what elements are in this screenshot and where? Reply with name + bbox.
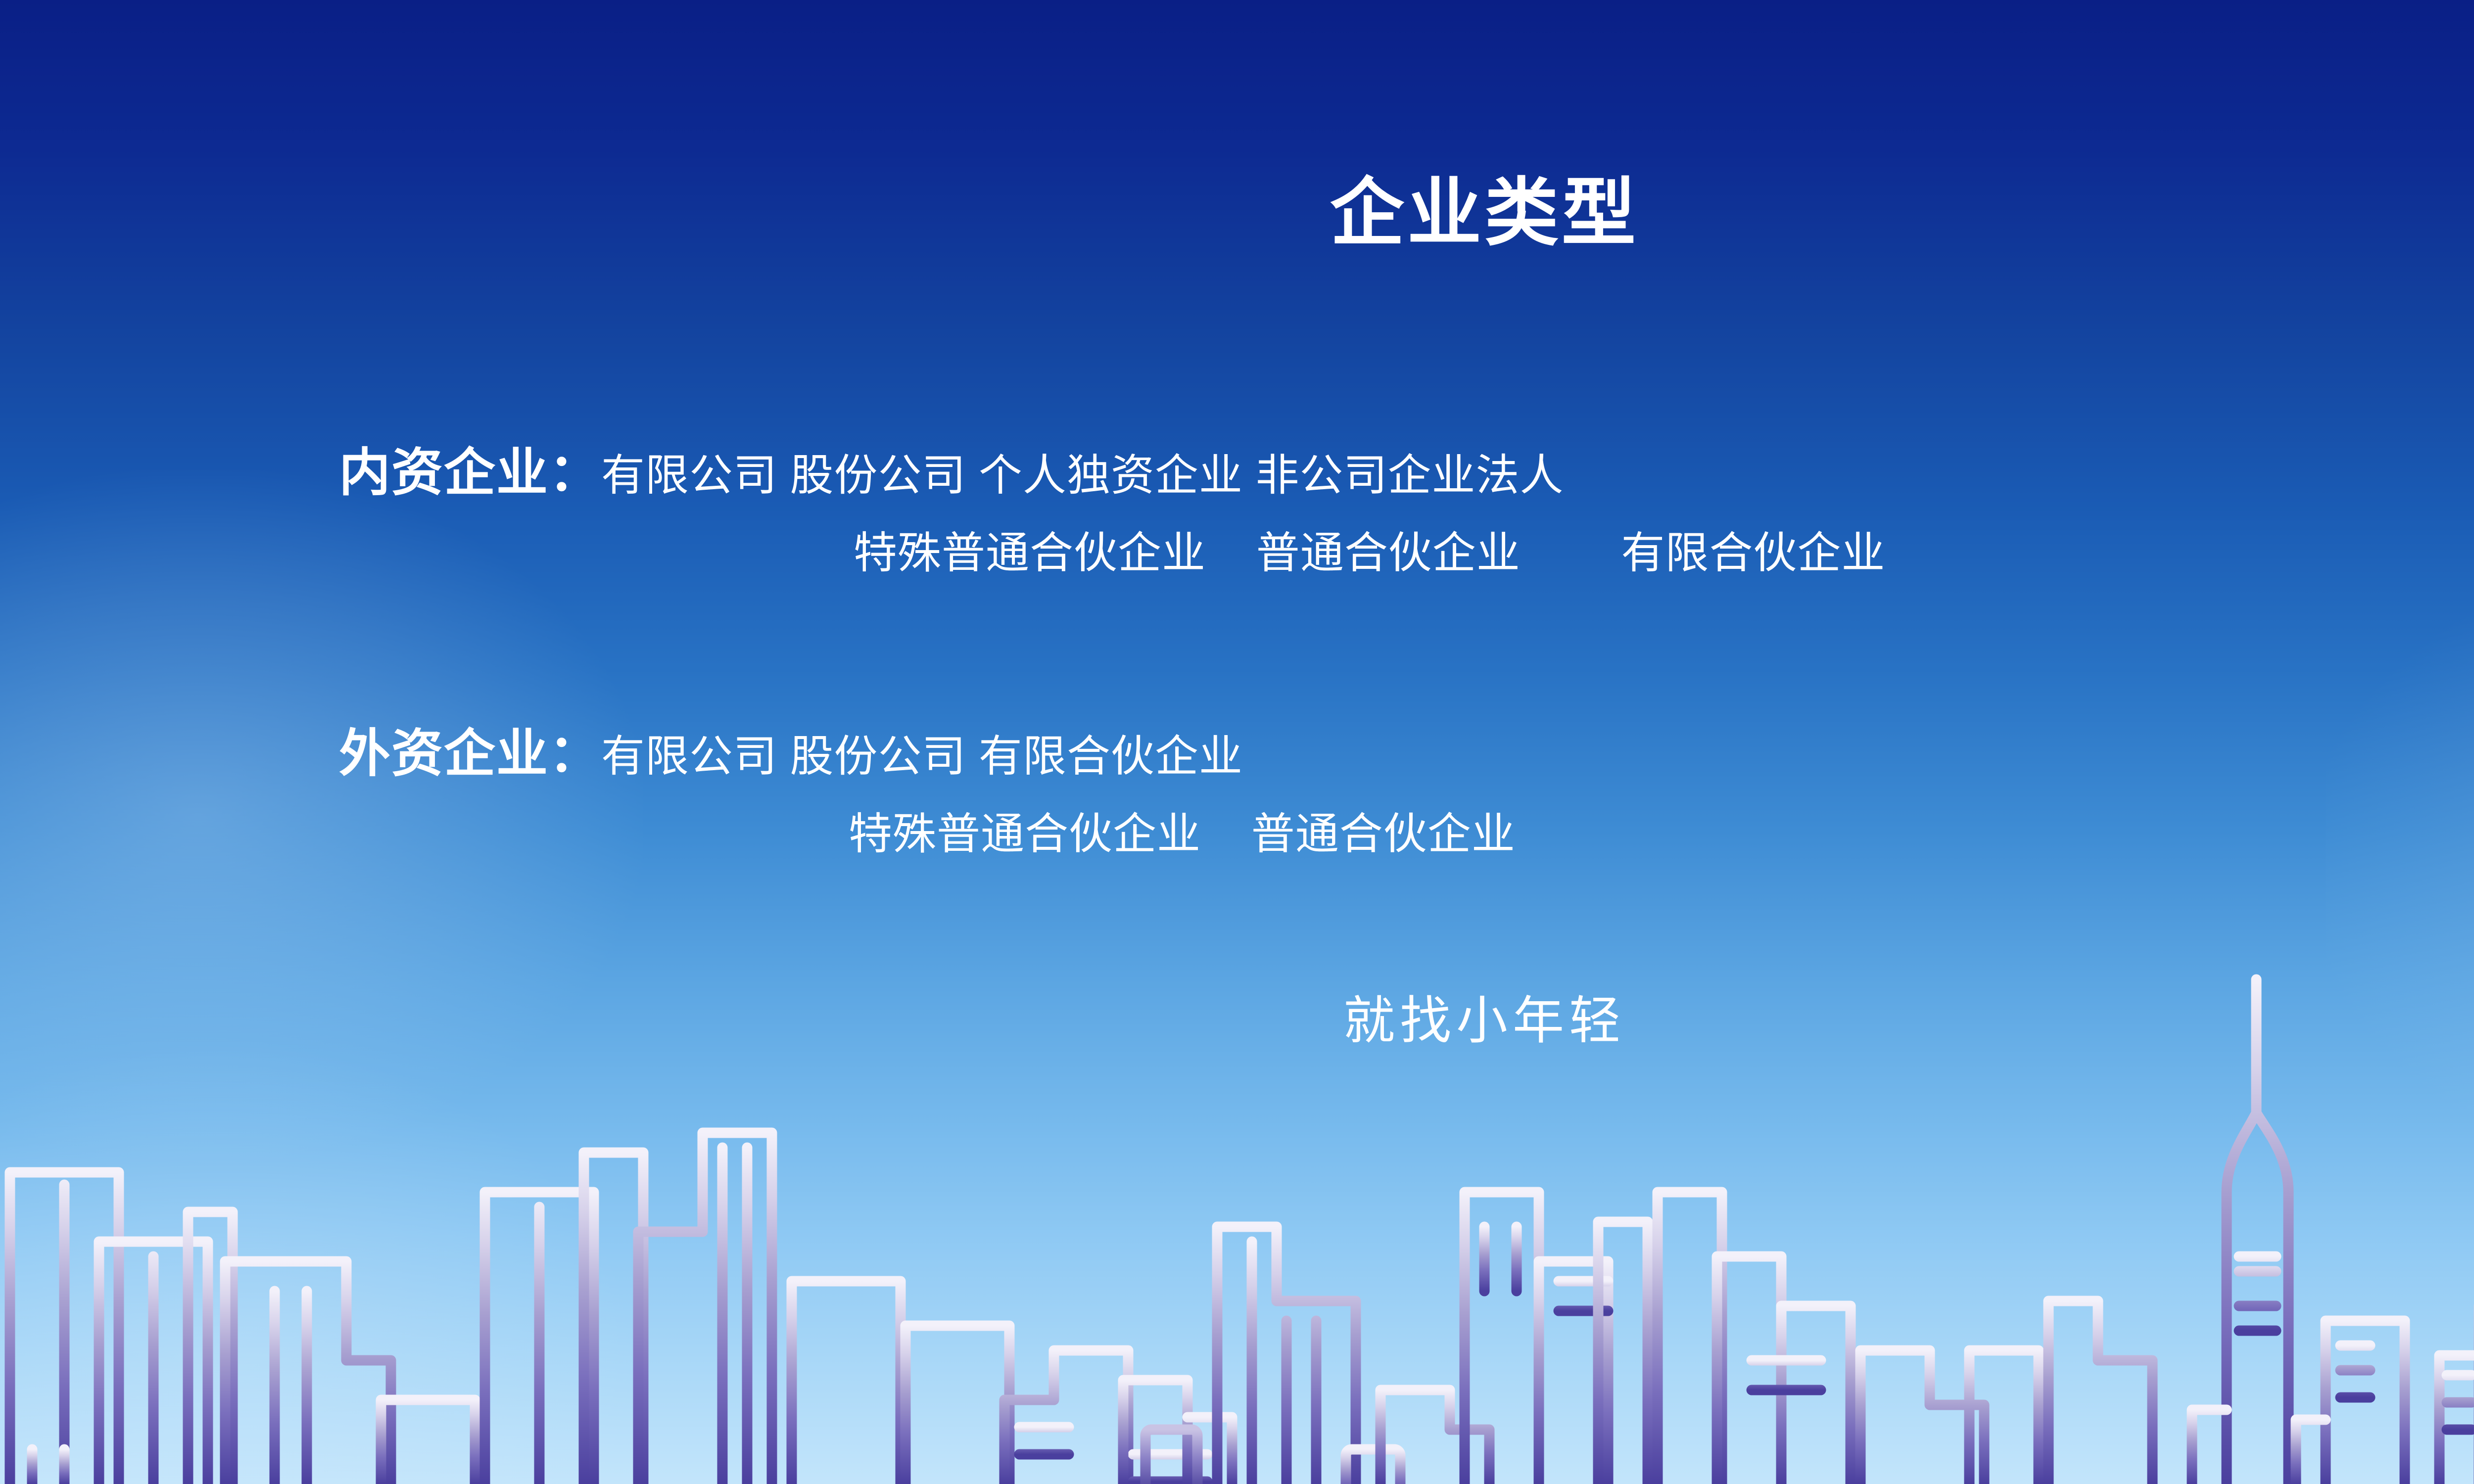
foreign-first-row: 外资企业： 有限公司 股份公司 有限合伙企业 (339, 711, 2474, 786)
tagline: 就找小年轻 (0, 978, 2474, 1053)
section-domestic-enterprise: 内资企业： 有限公司 股份公司 个人独资企业 非公司企业法人 特殊普通合伙企业 … (339, 430, 2474, 581)
slide-canvas: 企业类型 内资企业： 有限公司 股份公司 个人独资企业 非公司企业法人 特殊普通… (0, 0, 2474, 1484)
domestic-items-line-1: 有限公司 股份公司 个人独资企业 非公司企业法人 (601, 440, 1564, 503)
foreign-items-line-1: 有限公司 股份公司 有限合伙企业 (601, 721, 1243, 784)
domestic-label: 内资企业： (339, 430, 601, 505)
page-title: 企业类型 (0, 174, 2474, 252)
foreign-items-line-2: 特殊普通合伙企业 普通合伙企业 (339, 799, 2474, 862)
domestic-items-line-2: 特殊普通合伙企业 普通合伙企业 有限合伙企业 (339, 518, 2474, 581)
section-foreign-enterprise: 外资企业： 有限公司 股份公司 有限合伙企业 特殊普通合伙企业 普通合伙企业 (339, 711, 2474, 862)
foreign-label: 外资企业： (339, 711, 601, 786)
domestic-first-row: 内资企业： 有限公司 股份公司 个人独资企业 非公司企业法人 (339, 430, 2474, 505)
